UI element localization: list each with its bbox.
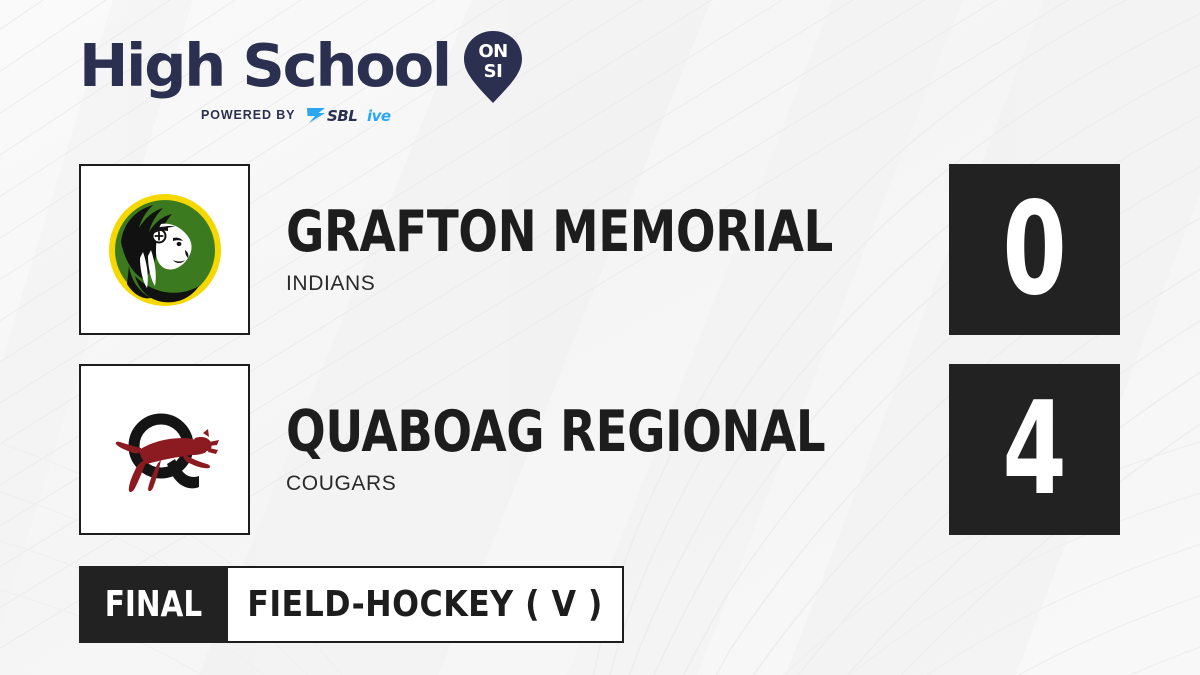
team-score-box: 0 <box>949 164 1120 335</box>
on-si-pin-icon: ON SI <box>462 29 524 105</box>
sport-label: FIELD-HOCKEY ( V ) <box>247 584 603 625</box>
pin-label-bottom: SI <box>484 61 503 82</box>
team-row: GRAFTON MEMORIAL INDIANS 0 <box>0 164 1200 336</box>
powered-by-label: POWERED BY <box>201 108 295 122</box>
status-badge-label: FINAL <box>105 584 203 625</box>
status-badge: FINAL <box>79 566 228 643</box>
team-mascot: INDIANS <box>286 272 375 296</box>
brand-title: High School <box>79 35 450 97</box>
team-text-block: GRAFTON MEMORIAL INDIANS <box>286 164 926 335</box>
team-score: 0 <box>1002 186 1066 314</box>
team-row: QUABOAG REGIONAL COUGARS 4 <box>0 364 1200 536</box>
sblive-logo-icon: SBL ive <box>303 105 407 125</box>
quaboag-cougars-logo <box>95 380 235 520</box>
game-status-bar: FINAL FIELD-HOCKEY ( V ) <box>79 566 624 643</box>
sport-label-box: FIELD-HOCKEY ( V ) <box>228 566 624 643</box>
team-name: GRAFTON MEMORIAL <box>286 204 833 260</box>
on-si-pin-svg: ON SI <box>462 29 524 105</box>
team-text-block: QUABOAG REGIONAL COUGARS <box>286 364 926 535</box>
team-name: QUABOAG REGIONAL <box>286 404 825 460</box>
team-logo-box <box>79 364 250 535</box>
sblive-text-part2: ive <box>367 107 391 125</box>
sblive-text-part1: SBL <box>327 107 357 125</box>
sblive-logo-svg: SBL ive <box>303 105 407 125</box>
scoreboard-graphic: High School ON SI POWERED BY SBL ive <box>0 0 1200 675</box>
team-mascot: COUGARS <box>286 472 396 496</box>
brand-title-row: High School ON SI <box>79 33 539 99</box>
team-logo-box <box>79 164 250 335</box>
powered-by-row: POWERED BY SBL ive <box>79 105 539 125</box>
team-score: 4 <box>1002 386 1066 514</box>
brand-header: High School ON SI POWERED BY SBL ive <box>79 33 539 138</box>
team-score-box: 4 <box>949 364 1120 535</box>
pin-label-top: ON <box>478 41 507 62</box>
grafton-indians-logo <box>95 180 235 320</box>
